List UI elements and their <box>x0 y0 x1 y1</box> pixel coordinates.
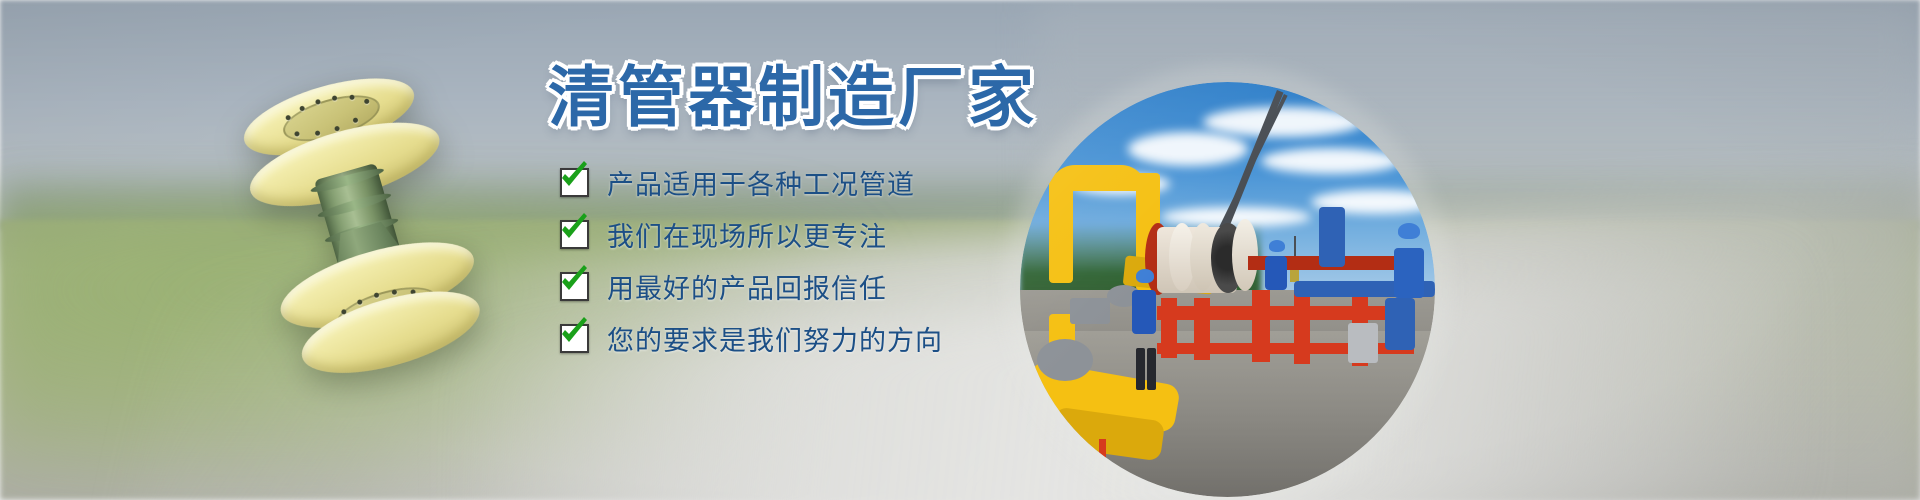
photo-crane-hook <box>1290 269 1299 282</box>
photo-worker-leg <box>1147 348 1156 390</box>
photo-blue-pipe <box>1385 298 1415 350</box>
list-item: 您的要求是我们努力的方向 <box>560 314 943 362</box>
photo-valve-body <box>1070 298 1110 324</box>
photo-red-frame-post <box>1252 290 1270 362</box>
photo-flow-arrow <box>1099 439 1106 465</box>
list-item: 产品适用于各种工况管道 <box>560 158 943 206</box>
photo-cloud <box>1203 107 1363 137</box>
photo-red-frame-post <box>1194 298 1210 360</box>
photo-red-frame-post <box>1294 290 1310 364</box>
photo-worker <box>1132 290 1156 334</box>
list-item: 用最好的产品回报信任 <box>560 262 943 310</box>
photo-worker-helmet <box>1398 223 1420 239</box>
checkbox-checked-icon <box>560 324 589 353</box>
feature-bullet-list: 产品适用于各种工况管道 我们在现场所以更专注 用最好的产品回报信任 <box>560 158 943 366</box>
promo-banner: 清管器制造厂家 产品适用于各种工况管道 我们在现场所以更专注 <box>0 0 1920 500</box>
photo-control-box <box>1348 323 1378 363</box>
bullet-label: 我们在现场所以更专注 <box>607 215 887 254</box>
photo-yellow-pipe-bend <box>1049 165 1147 191</box>
photo-pig-disc <box>1232 219 1258 291</box>
photo-worker <box>1394 248 1424 298</box>
list-item: 我们在现场所以更专注 <box>560 210 943 258</box>
photo-circle-mask <box>1020 82 1435 497</box>
photo-red-frame-post <box>1161 298 1177 358</box>
checkbox-checked-icon <box>560 168 589 197</box>
bullet-label: 产品适用于各种工况管道 <box>607 163 915 202</box>
photo-blue-pipe <box>1319 207 1345 267</box>
photo-cloud <box>1128 132 1248 166</box>
checkbox-checked-icon <box>560 272 589 301</box>
pipeline-field-work-photo <box>1020 82 1435 497</box>
photo-worker-helmet <box>1269 240 1285 252</box>
bullet-label: 用最好的产品回报信任 <box>607 267 887 306</box>
checkbox-checked-icon <box>560 220 589 249</box>
photo-valve-flange <box>1037 339 1093 381</box>
photo-worker-helmet <box>1136 269 1154 283</box>
banner-headline: 清管器制造厂家 <box>548 44 1038 140</box>
photo-worker <box>1265 256 1287 290</box>
bullet-label: 您的要求是我们努力的方向 <box>607 319 943 358</box>
photo-worker-leg <box>1136 348 1145 390</box>
